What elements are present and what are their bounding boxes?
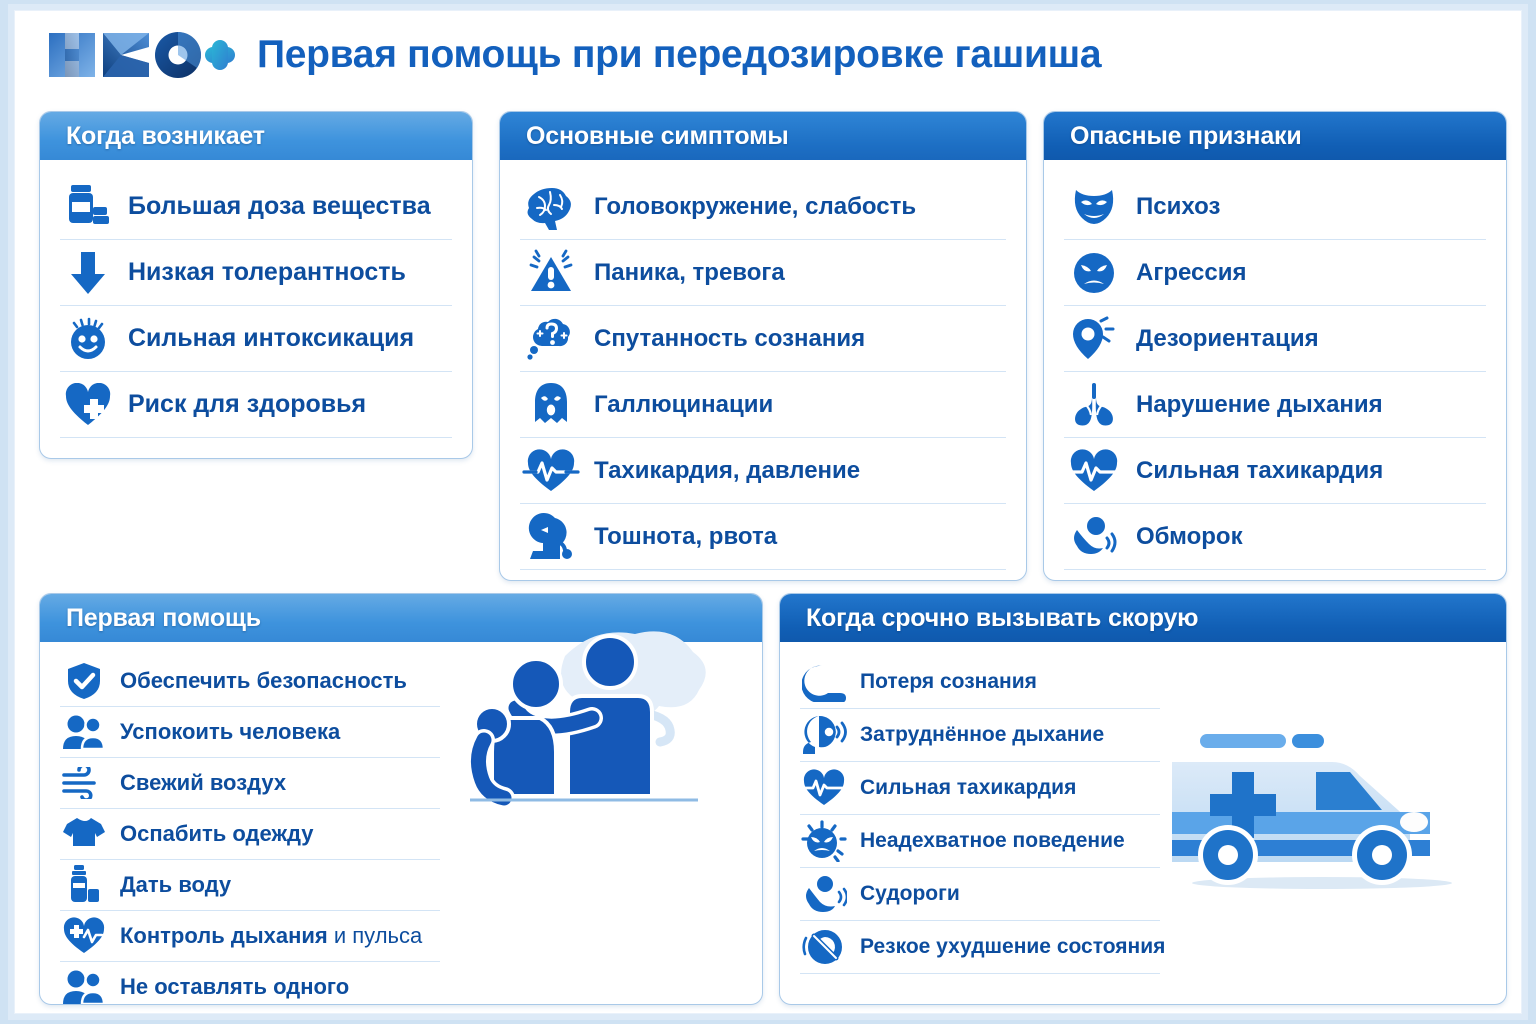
- dizzy-face-icon: [60, 314, 116, 364]
- list-item-label: Дать воду: [120, 872, 231, 898]
- list-item-label: Свежий воздух: [120, 770, 286, 796]
- card-when-occurs-list: Большая доза вещества Низкая толерантнос…: [40, 160, 472, 448]
- list-item[interactable]: Галлюцинации: [520, 372, 1006, 438]
- seizure-icon: [800, 872, 848, 916]
- card-main-symptoms: Основные симптомы Головок: [499, 111, 1027, 581]
- down-arrow-icon: [60, 248, 116, 298]
- decline-icon: [800, 925, 848, 969]
- card-first-aid-title: Первая помощь: [40, 594, 762, 642]
- list-item[interactable]: Успокоить человека: [60, 707, 440, 758]
- list-item[interactable]: Тахикардия, давление: [520, 438, 1006, 504]
- list-item-label: Дезориентация: [1136, 325, 1319, 353]
- list-item[interactable]: Дезориентация: [1064, 306, 1486, 372]
- list-item[interactable]: Свежий воздух: [60, 758, 440, 809]
- warning-icon: [520, 246, 582, 300]
- list-item[interactable]: Психоз: [1064, 174, 1486, 240]
- card-danger-signs-title: Опасные признаки: [1044, 112, 1506, 160]
- unconscious-person-icon: [800, 660, 848, 704]
- list-item-label: Контроль дыхания и пульса: [120, 923, 422, 949]
- list-item[interactable]: Большая доза вещества: [60, 174, 452, 240]
- list-item-label: Обеспечить безопасность: [120, 668, 407, 694]
- ghost-icon: [520, 378, 582, 432]
- list-item[interactable]: Не оставлять одного: [60, 962, 440, 1005]
- two-people-icon: [60, 711, 108, 753]
- page-title: Первая помощь при передозировке гашиша: [257, 33, 1101, 77]
- logo-icon: [45, 29, 235, 81]
- list-item-label: Сильная интоксикация: [128, 324, 414, 353]
- evil-mask-icon: [1064, 180, 1124, 234]
- two-people-comforting-illustration: [470, 614, 760, 864]
- list-item-label: Затруднённое дыхание: [860, 723, 1104, 747]
- fainting-icon: [1064, 510, 1124, 564]
- infographic-frame: Первая помощь при передозировке гашиша К…: [14, 10, 1522, 1014]
- card-main-symptoms-title: Основные симптомы: [500, 112, 1026, 160]
- list-item-label: Судороги: [860, 882, 960, 906]
- list-item-label: Психоз: [1136, 193, 1220, 221]
- list-item-label: Оспабить одежду: [120, 821, 314, 847]
- location-pin-icon: [1064, 312, 1124, 366]
- heart-cross-icon: [60, 380, 116, 430]
- list-item-label: Агрессия: [1136, 259, 1246, 287]
- card-main-symptoms-list: Головокружение, слабость Паника, тревога: [500, 160, 1026, 580]
- list-item[interactable]: Контроль дыхания и пульса: [60, 911, 440, 962]
- vomiting-icon: [520, 510, 582, 564]
- card-danger-signs: Опасные признаки Психоз: [1043, 111, 1507, 581]
- list-item[interactable]: Сильная интоксикация: [60, 306, 452, 372]
- breathing-difficulty-icon: [800, 713, 848, 757]
- card-first-aid: Первая помощь: [39, 593, 763, 1005]
- list-item-label: Паника, тревога: [594, 259, 785, 287]
- brain-icon: [520, 180, 582, 234]
- list-item[interactable]: Сильная тахикардия: [1064, 438, 1486, 504]
- list-item[interactable]: Резкое ухудшение состояния: [800, 921, 1160, 974]
- card-danger-signs-list: Психоз Агрессия: [1044, 160, 1506, 580]
- list-item-label: Неадехватное поведение: [860, 829, 1125, 853]
- list-item[interactable]: Сильная тахикардия: [800, 762, 1160, 815]
- neo-plus-logo: [45, 29, 235, 81]
- heart-pulse-icon: [800, 766, 848, 810]
- list-item-label: Нарушение дыхания: [1136, 391, 1383, 419]
- list-item-label: Успокоить человека: [120, 719, 340, 745]
- page-header: Первая помощь при передозировке гашиша: [15, 11, 1521, 99]
- list-item[interactable]: Затруднённое дыхание: [800, 709, 1160, 762]
- list-item[interactable]: Паника, тревога: [520, 240, 1006, 306]
- heart-pulse-icon: [1064, 444, 1124, 498]
- list-item[interactable]: Обеспечить безопасность: [60, 656, 440, 707]
- list-item-label: Риск для здоровья: [128, 390, 366, 419]
- list-item-label: Тахикардия, давление: [594, 457, 860, 485]
- question-cloud-icon: [520, 312, 582, 366]
- lungs-icon: [1064, 378, 1124, 432]
- list-item[interactable]: Низкая толерантность: [60, 240, 452, 306]
- list-item-label: Сильная тахикардия: [860, 776, 1076, 800]
- card-call-ambulance-title: Когда срочно вызывать скорую: [780, 594, 1506, 642]
- list-item-label: Обморок: [1136, 523, 1243, 551]
- card-when-occurs-title: Когда возникает: [40, 112, 472, 160]
- list-item[interactable]: Нарушение дыхания: [1064, 372, 1486, 438]
- list-item-label: Тошнота, рвота: [594, 523, 777, 551]
- list-item-label-bold: Контроль дыхания: [120, 923, 328, 948]
- heart-pulse-icon: [520, 444, 582, 498]
- card-call-ambulance: Когда срочно вызывать скорую: [779, 593, 1507, 1005]
- pill-bottle-icon: [60, 182, 116, 232]
- list-item[interactable]: Судороги: [800, 868, 1160, 921]
- list-item[interactable]: Дать воду: [60, 860, 440, 911]
- angry-face-icon: [1064, 246, 1124, 300]
- list-item[interactable]: Неадехватное поведение: [800, 815, 1160, 868]
- agitated-face-icon: [800, 819, 848, 863]
- card-call-ambulance-list: Потеря сознания Затруднённое дыхание: [780, 642, 1180, 984]
- list-item-label: Не оставлять одного: [120, 974, 349, 1000]
- list-item[interactable]: Оспабить одежду: [60, 809, 440, 860]
- list-item-label: Резкое ухудшение состояния: [860, 935, 1165, 959]
- ambulance-illustration: [1152, 720, 1482, 900]
- list-item[interactable]: Тошнота, рвота: [520, 504, 1006, 570]
- two-people-icon: [60, 966, 108, 1005]
- list-item-label: Низкая толерантность: [128, 258, 406, 287]
- card-when-occurs: Когда возникает Большая доза вещества: [39, 111, 473, 459]
- shield-check-icon: [60, 660, 108, 702]
- list-item-label: Спутанность сознания: [594, 325, 865, 353]
- card-first-aid-list: Обеспечить безопасность Успокоить челове…: [40, 642, 460, 1005]
- water-bottle-icon: [60, 864, 108, 906]
- list-item[interactable]: Спутанность сознания: [520, 306, 1006, 372]
- list-item-label-thin: и пульса: [328, 923, 422, 948]
- list-item[interactable]: Риск для здоровья: [60, 372, 452, 438]
- list-item[interactable]: Агрессия: [1064, 240, 1486, 306]
- list-item[interactable]: Головокружение, слабость: [520, 174, 1006, 240]
- list-item-label: Потеря сознания: [860, 670, 1037, 694]
- list-item[interactable]: Обморок: [1064, 504, 1486, 570]
- list-item-label: Галлюцинации: [594, 391, 773, 419]
- list-item-label: Большая доза вещества: [128, 192, 431, 221]
- list-item-label: Сильная тахикардия: [1136, 457, 1383, 485]
- heart-cross-pulse-icon: [60, 915, 108, 957]
- wind-icon: [60, 762, 108, 804]
- list-item-label: Головокружение, слабость: [594, 193, 916, 221]
- tshirt-icon: [60, 813, 108, 855]
- list-item[interactable]: Потеря сознания: [800, 656, 1160, 709]
